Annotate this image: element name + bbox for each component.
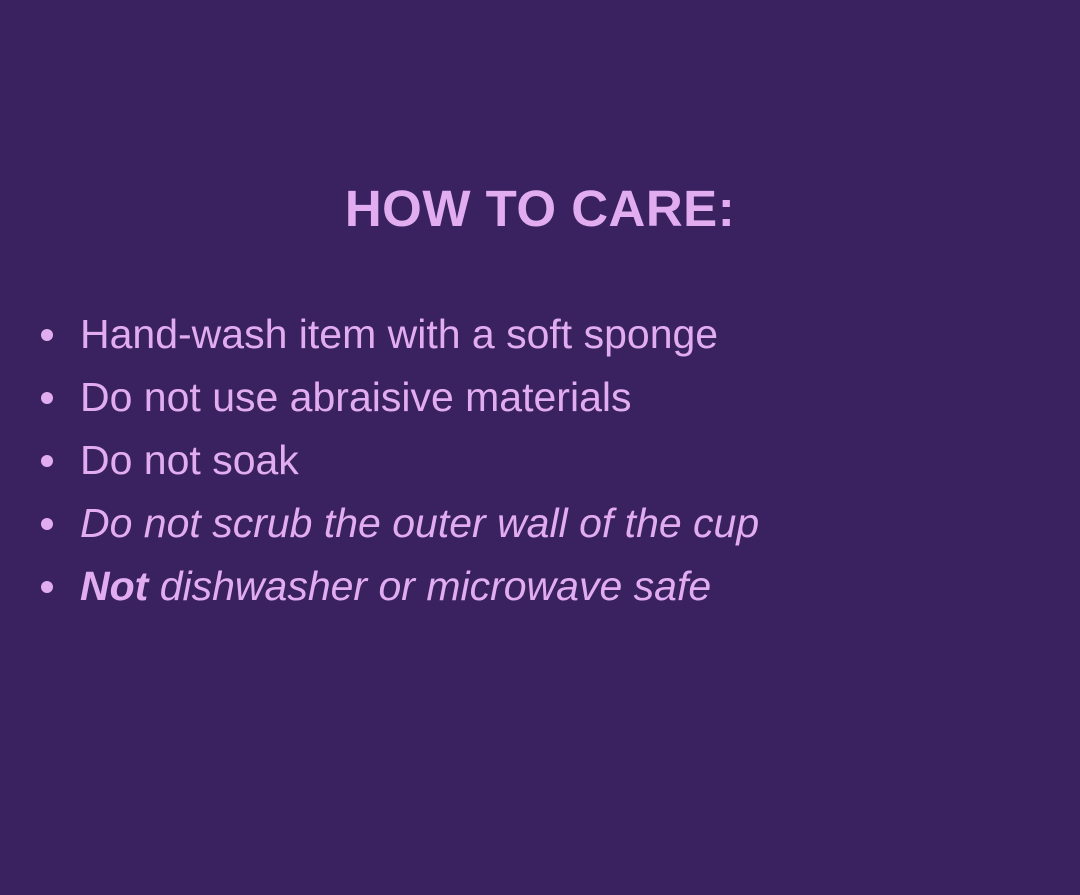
list-item: Do not soak xyxy=(38,429,1038,492)
list-item-label: Do not soak xyxy=(80,437,299,483)
care-instructions-card: HOW TO CARE: Hand-wash item with a soft … xyxy=(0,0,1080,895)
list-item-label: dishwasher or microwave safe xyxy=(148,563,711,609)
bullet-dot-icon xyxy=(41,581,53,593)
list-item: Not dishwasher or microwave safe xyxy=(38,555,1038,618)
bullet-dot-icon xyxy=(41,392,53,404)
care-instructions-list: Hand-wash item with a soft sponge Do not… xyxy=(38,303,1038,618)
list-item: Do not scrub the outer wall of the cup xyxy=(38,492,1038,555)
page-title: HOW TO CARE: xyxy=(0,182,1080,236)
list-item-label: Do not scrub the outer wall of the cup xyxy=(80,500,759,546)
list-item-label: Do not use abraisive materials xyxy=(80,374,631,420)
bullet-dot-icon xyxy=(41,455,53,467)
list-item: Hand-wash item with a soft sponge xyxy=(38,303,1038,366)
list-item-label: Hand-wash item with a soft sponge xyxy=(80,311,718,357)
list-item-emphasis: Not xyxy=(80,563,148,609)
bullet-dot-icon xyxy=(41,518,53,530)
bullet-dot-icon xyxy=(41,329,53,341)
list-item: Do not use abraisive materials xyxy=(38,366,1038,429)
